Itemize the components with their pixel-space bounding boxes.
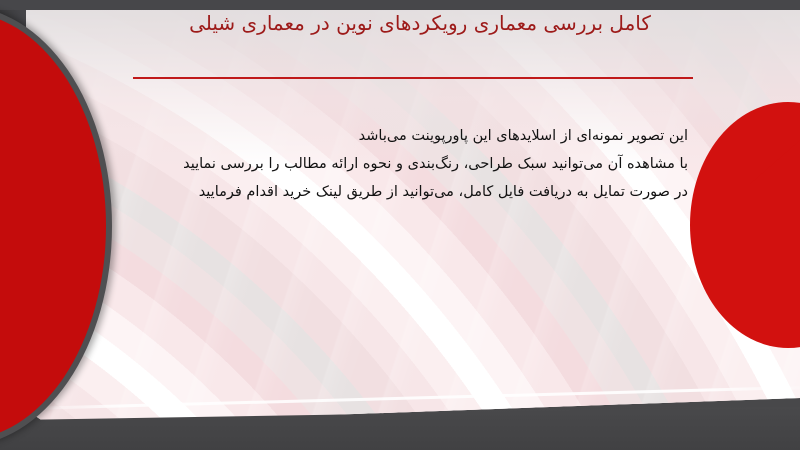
slide-body-text: این تصویر نمونه‌ای از اسلایدهای این پاور…	[168, 122, 688, 206]
slide-title: کامل بررسی معماری رویکردهای نوین در معما…	[140, 8, 700, 38]
body-line-1: این تصویر نمونه‌ای از اسلایدهای این پاور…	[168, 122, 688, 150]
body-line-3: در صورت تمایل به دریافت فایل کامل، می‌تو…	[168, 178, 688, 206]
body-line-2: با مشاهده آن می‌توانید سبک طراحی، رنگ‌بن…	[168, 150, 688, 178]
slide-content: کامل بررسی معماری رویکردهای نوین در معما…	[0, 0, 800, 450]
title-underline-rule	[133, 77, 693, 79]
top-frame-strip	[0, 0, 800, 10]
presentation-slide: کامل بررسی معماری رویکردهای نوین در معما…	[0, 0, 800, 450]
